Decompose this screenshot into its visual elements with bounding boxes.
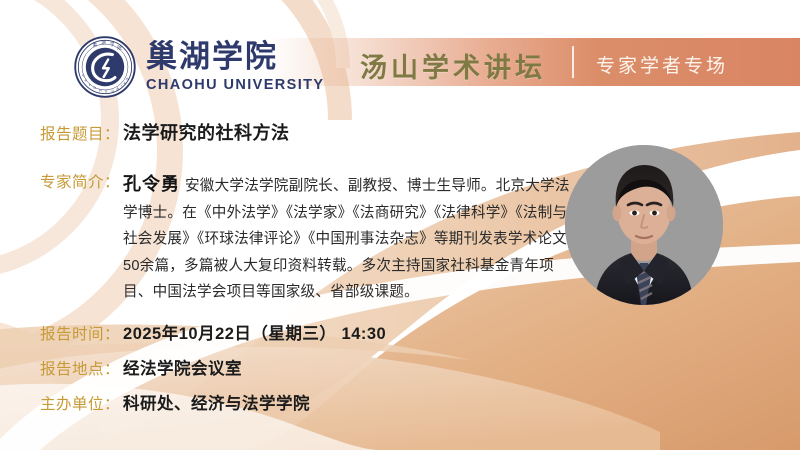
speaker-bio-label: 专家简介： xyxy=(40,170,120,192)
banner-subtitle: 专家学者专场 xyxy=(596,51,728,78)
report-host-value: 科研处、经济与法学学院 xyxy=(123,390,310,414)
university-logo: 巢湖 学院 C H A O H U U N I V E 巢湖学院 CHAOHU … xyxy=(74,36,324,98)
speaker-name: 孔令勇 xyxy=(123,174,180,194)
banner-title: 汤山学术讲坛 xyxy=(360,46,546,85)
report-host-row: 主办单位： 科研处、经济与法学学院 xyxy=(40,390,310,414)
report-place-value: 经法学院会议室 xyxy=(123,355,242,379)
logo-name-cn: 巢湖学院 xyxy=(146,42,324,73)
speaker-bio-row: 专家简介： 孔令勇安徽大学法学院副院长、副教授、博士生导师。北京大学法学博士。在… xyxy=(40,170,575,306)
report-place-label: 报告地点： xyxy=(40,357,120,379)
banner-divider-icon xyxy=(572,46,574,78)
speaker-portrait xyxy=(565,145,723,305)
report-title-value: 法学研究的社科方法 xyxy=(123,119,290,145)
university-seal-icon: 巢湖 学院 C H A O H U U N I V E xyxy=(74,36,136,98)
report-time-row: 报告时间： 2025年10月22日（星期三） 14:30 xyxy=(40,320,386,344)
report-host-label: 主办单位： xyxy=(40,392,120,414)
portrait-photo xyxy=(565,145,723,305)
speaker-bio-block: 孔令勇安徽大学法学院副院长、副教授、博士生导师。北京大学法学博士。在《中外法学》… xyxy=(123,170,575,306)
speaker-bio-text: 安徽大学法学院副院长、副教授、博士生导师。北京大学法学博士。在《中外法学》《法学… xyxy=(123,178,570,300)
report-title-label: 报告题目： xyxy=(40,122,120,144)
report-place-row: 报告地点： 经法学院会议室 xyxy=(40,355,242,379)
report-time-value: 2025年10月22日（星期三） 14:30 xyxy=(123,320,386,344)
report-time-label: 报告时间： xyxy=(40,322,120,344)
logo-name-en: CHAOHU UNIVERSITY xyxy=(146,78,324,93)
lecture-poster: 汤山学术讲坛 专家学者专场 巢湖 学院 C H A O H U U N xyxy=(0,0,800,450)
report-title-row: 报告题目： 法学研究的社科方法 xyxy=(40,119,290,145)
